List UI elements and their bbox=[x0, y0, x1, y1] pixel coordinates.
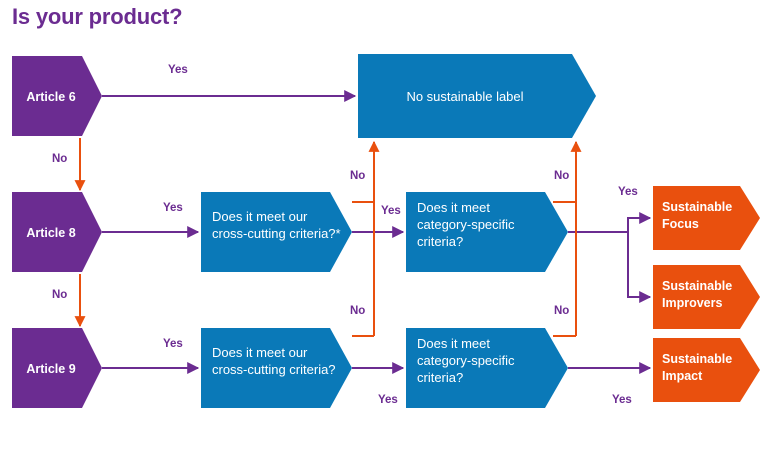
flowchart-canvas: Is your product? bbox=[0, 0, 769, 471]
node-no-sustainable-label[interactable] bbox=[358, 54, 596, 138]
node-sustainable-focus[interactable] bbox=[653, 186, 760, 250]
node-cross-cutting-criteria-a9[interactable] bbox=[201, 328, 352, 408]
node-category-specific-criteria-a9[interactable] bbox=[406, 328, 568, 408]
node-sustainable-impact[interactable] bbox=[653, 338, 760, 402]
edge-cat8-to-focus bbox=[628, 218, 650, 232]
edge-cat8-to-improvers bbox=[628, 232, 650, 297]
node-article6[interactable] bbox=[12, 56, 102, 136]
node-cross-cutting-criteria-a8[interactable] bbox=[201, 192, 352, 272]
node-article8[interactable] bbox=[12, 192, 102, 272]
node-category-specific-criteria-a8[interactable] bbox=[406, 192, 568, 272]
node-sustainable-improvers[interactable] bbox=[653, 265, 760, 329]
node-article9[interactable] bbox=[12, 328, 102, 408]
flowchart-svg bbox=[0, 0, 769, 471]
